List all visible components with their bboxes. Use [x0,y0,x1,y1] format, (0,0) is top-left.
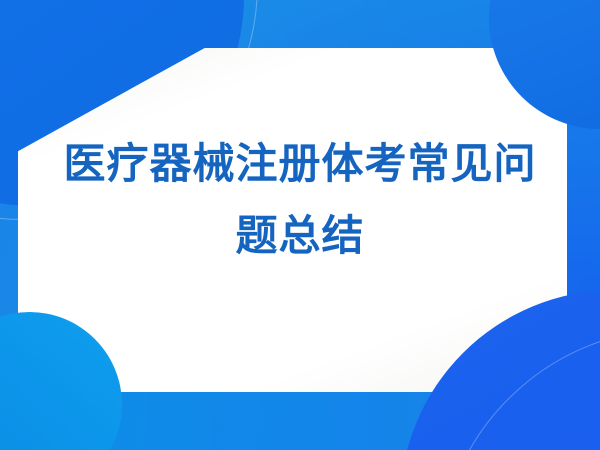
poster-title-line-1: 医疗器械注册体考常见问 [0,128,600,200]
poster-canvas: 医疗器械注册体考常见问 题总结 [0,0,600,450]
poster-title-line-2: 题总结 [0,200,600,272]
poster-title: 医疗器械注册体考常见问 题总结 [0,128,600,272]
